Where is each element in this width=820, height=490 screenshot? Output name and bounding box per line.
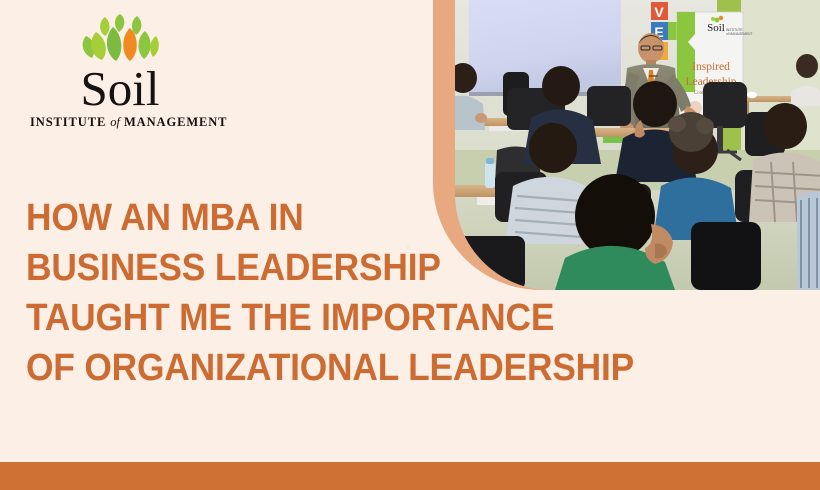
- svg-text:Inspired: Inspired: [692, 61, 730, 73]
- hero-photo-container: V E Soil INSTITUTE of MANAGEMENT Inspire…: [433, 0, 820, 290]
- headline-line-3: TAUGHT ME THE IMPORTANCE: [26, 293, 621, 343]
- logo-tagline-suffix: MANAGEMENT: [124, 115, 227, 129]
- svg-text:V: V: [654, 4, 664, 20]
- blog-header-banner: Soil INSTITUTE of MANAGEMENT HOW AN MBA …: [0, 0, 820, 490]
- logo-wordmark: Soil: [30, 64, 210, 114]
- bottom-accent-bar: [0, 462, 820, 490]
- headline-line-4: OF ORGANIZATIONAL LEADERSHIP: [26, 343, 621, 393]
- classroom-photo: V E Soil INSTITUTE of MANAGEMENT Inspire…: [455, 0, 820, 290]
- soil-logo: Soil INSTITUTE of MANAGEMENT: [30, 14, 210, 126]
- leaf-cluster-icon: [78, 14, 162, 66]
- logo-tagline: INSTITUTE of MANAGEMENT: [30, 115, 210, 130]
- logo-tagline-of: of: [110, 115, 120, 129]
- svg-text:Soil: Soil: [707, 22, 725, 34]
- logo-tagline-prefix: INSTITUTE: [30, 115, 106, 129]
- svg-text:of MANAGEMENT: of MANAGEMENT: [726, 32, 752, 36]
